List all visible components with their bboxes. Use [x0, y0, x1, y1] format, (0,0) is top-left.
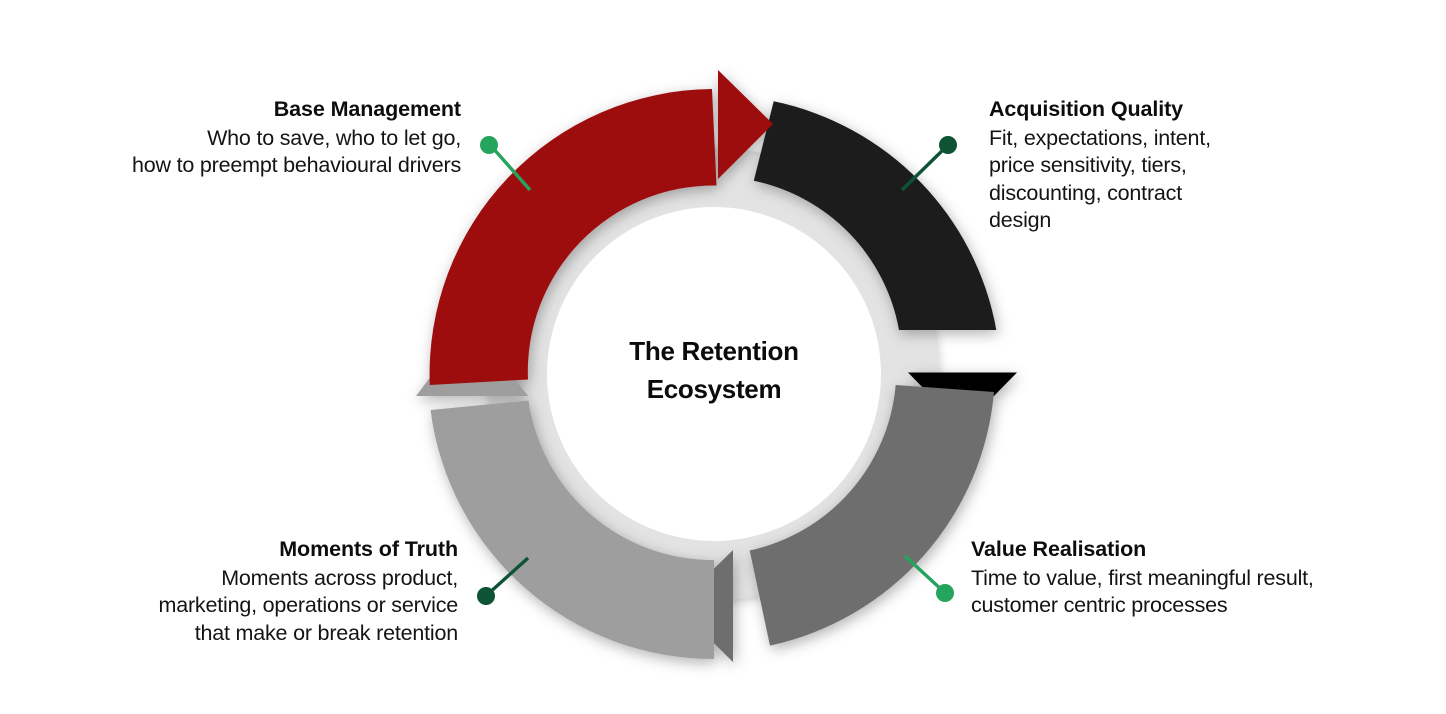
- label-base-management-line-2: how to preempt behavioural drivers: [18, 152, 461, 180]
- label-moments-of-truth-line-2: marketing, operations or service: [62, 592, 458, 620]
- label-value-realisation-title: Value Realisation: [971, 536, 1411, 564]
- label-moments-of-truth-line-1: Moments across product,: [62, 565, 458, 593]
- label-base-management-line-1: Who to save, who to let go,: [18, 125, 461, 153]
- label-moments-of-truth-line-3: that make or break retention: [62, 620, 458, 648]
- label-moments-of-truth: Moments of Truth Moments across product,…: [62, 536, 458, 647]
- label-value-realisation: Value Realisation Time to value, first m…: [971, 536, 1411, 620]
- label-moments-of-truth-title: Moments of Truth: [62, 536, 458, 564]
- label-acquisition-quality-line-4: design: [989, 207, 1309, 235]
- label-acquisition-quality-title: Acquisition Quality: [989, 96, 1309, 124]
- label-base-management-title: Base Management: [18, 96, 461, 124]
- center-title-line-2: Ecosystem: [554, 371, 874, 409]
- label-acquisition-quality-line-1: Fit, expectations, intent,: [989, 125, 1309, 153]
- center-title: The Retention Ecosystem: [554, 333, 874, 408]
- label-value-realisation-line-2: customer centric processes: [971, 592, 1411, 620]
- label-acquisition-quality-line-3: discounting, contract: [989, 180, 1309, 208]
- connector-value-realisation: [905, 556, 954, 602]
- connector-acquisition-quality: [902, 136, 957, 190]
- label-acquisition-quality: Acquisition Quality Fit, expectations, i…: [989, 96, 1309, 235]
- label-acquisition-quality-line-2: price sensitivity, tiers,: [989, 152, 1309, 180]
- label-base-management: Base Management Who to save, who to let …: [18, 96, 461, 180]
- diagram-canvas: The Retention Ecosystem Base Management …: [0, 0, 1446, 714]
- center-title-line-1: The Retention: [554, 333, 874, 371]
- label-value-realisation-line-1: Time to value, first meaningful result,: [971, 565, 1411, 593]
